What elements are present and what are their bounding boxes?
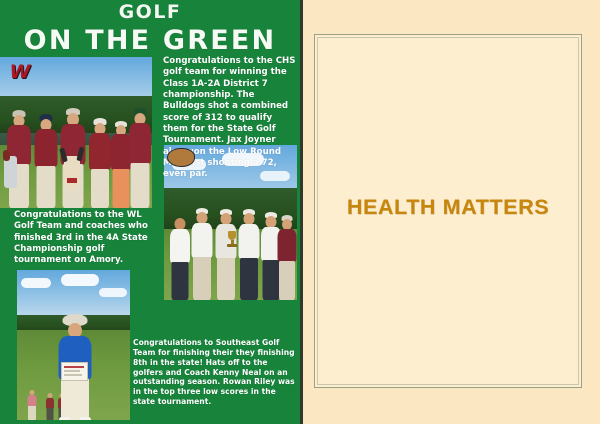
health-matters-panel: HEALTH MATTERS xyxy=(314,34,582,388)
page-title: GOLF ON THE GREEN xyxy=(0,0,300,54)
person-figure xyxy=(27,390,37,420)
health-matters-title: HEALTH MATTERS xyxy=(347,195,549,220)
golf-bag xyxy=(58,156,86,206)
southeast-article-text: Congratulations to Southeast Golf Team f… xyxy=(133,338,297,407)
person-figure xyxy=(191,208,213,300)
bulldog-mascot-logo xyxy=(167,148,195,167)
golf-bag xyxy=(2,150,20,190)
wl-golf-team-photo: W xyxy=(0,57,152,208)
magazine-spread: GOLF ON THE GREEN xyxy=(0,0,600,424)
person-figure xyxy=(215,208,237,300)
left-page-golf-on-the-green: GOLF ON THE GREEN xyxy=(0,0,300,424)
person-figure xyxy=(169,214,190,300)
trophy-icon xyxy=(226,231,238,249)
person-figure xyxy=(277,212,297,300)
southeast-golfer-photo xyxy=(17,270,130,420)
person-figure xyxy=(33,112,58,208)
award-certificate xyxy=(61,362,88,381)
wl-article-text: Congratulations to the WL Golf Team and … xyxy=(14,210,160,267)
w-logo-letter: W xyxy=(10,63,31,82)
main-golfer-figure xyxy=(55,314,95,420)
page-spine-divider xyxy=(300,0,303,424)
person-figure xyxy=(238,208,260,300)
w-school-logo: W xyxy=(3,59,37,85)
headline-on-the-green: ON THE GREEN xyxy=(0,22,300,54)
person-figure xyxy=(88,114,112,208)
headline-golf: GOLF xyxy=(0,0,300,22)
person-figure xyxy=(45,393,54,420)
person-figure xyxy=(128,108,152,208)
right-page-health-matters: HEALTH MATTERS xyxy=(300,0,600,424)
